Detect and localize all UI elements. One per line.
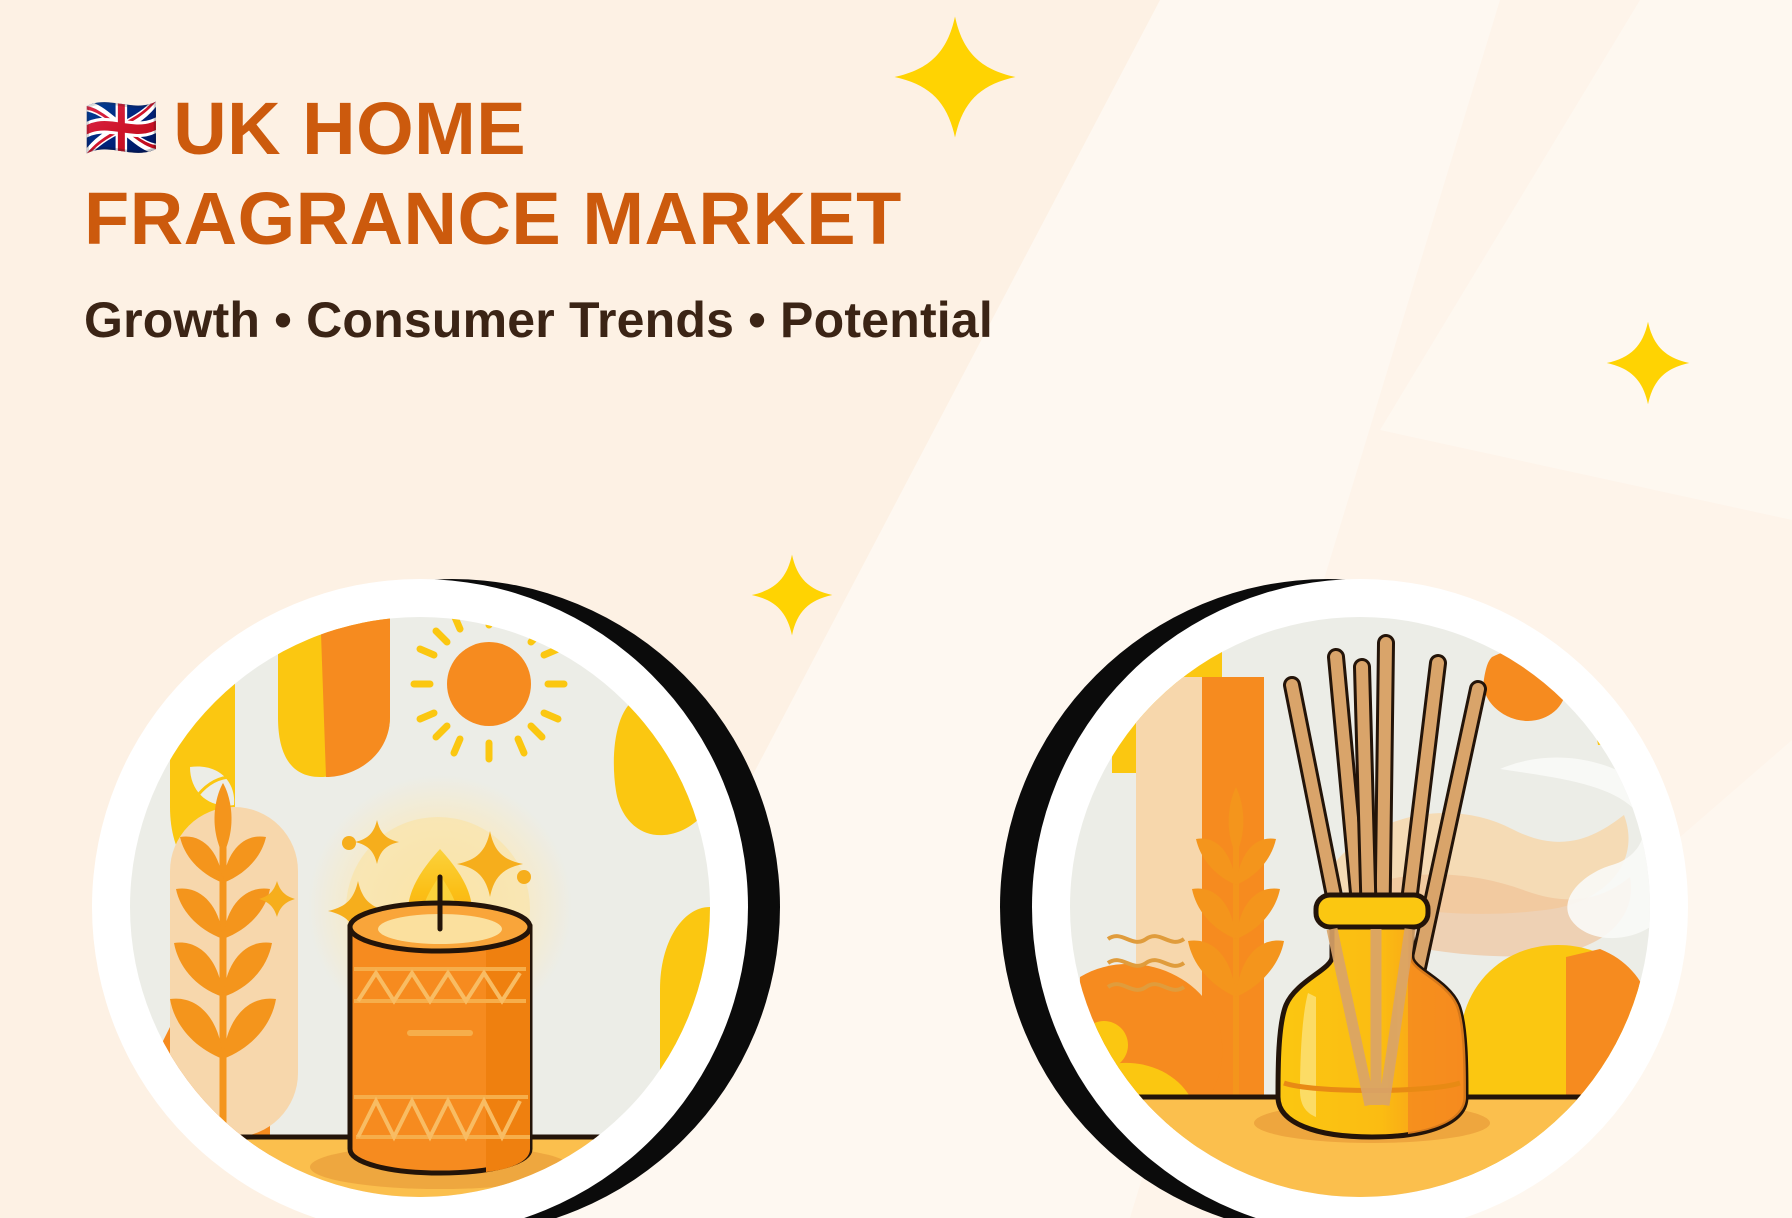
- pillar-candle: [350, 877, 530, 1173]
- sparkle-right-icon: [1605, 320, 1691, 406]
- page-title-line-2: FRAGRANCE MARKET: [84, 174, 993, 264]
- page-title-text-1: UK HOME: [173, 87, 526, 170]
- hero-header: 🇬🇧UK HOME FRAGRANCE MARKET Growth • Cons…: [84, 84, 993, 349]
- candle-medallion: [20, 477, 820, 1218]
- reed-diffuser-medallion: [940, 477, 1792, 1218]
- uk-flag-icon: 🇬🇧: [84, 93, 159, 163]
- page-title-line-1: 🇬🇧UK HOME: [84, 84, 993, 174]
- hero-banner: 🇬🇧UK HOME FRAGRANCE MARKET Growth • Cons…: [0, 0, 1792, 1218]
- page-subtitle: Growth • Consumer Trends • Potential: [84, 291, 993, 349]
